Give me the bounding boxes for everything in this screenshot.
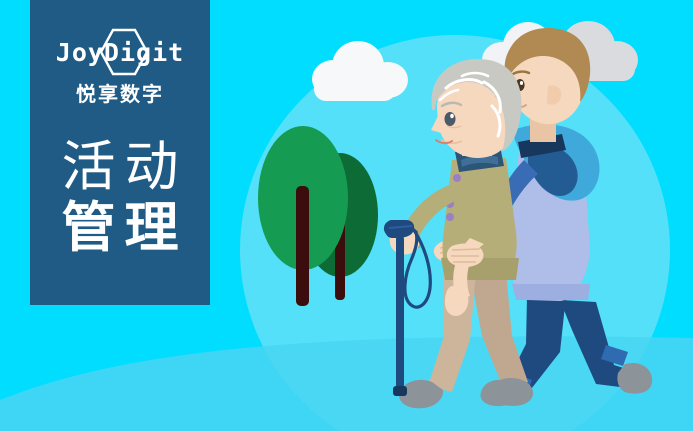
page-title-line-1: 活动 — [53, 138, 188, 195]
page-title-line-2: 管理 — [53, 199, 188, 256]
woman-eye — [445, 112, 456, 126]
cane-shaft — [396, 236, 404, 391]
poster-canvas: JoyDigit 悦享数字 活动 管理 老人与年轻人陪伴散步插画 — [0, 0, 693, 431]
brand-logo: JoyDigit — [45, 26, 195, 78]
brand-panel: JoyDigit 悦享数字 活动 管理 — [30, 0, 210, 305]
brand-subtitle: 悦享数字 — [76, 84, 164, 104]
brand-wordmark: JoyDigit — [45, 26, 195, 78]
cane-tip — [393, 386, 407, 396]
page-title: 活动 管理 — [53, 138, 188, 256]
